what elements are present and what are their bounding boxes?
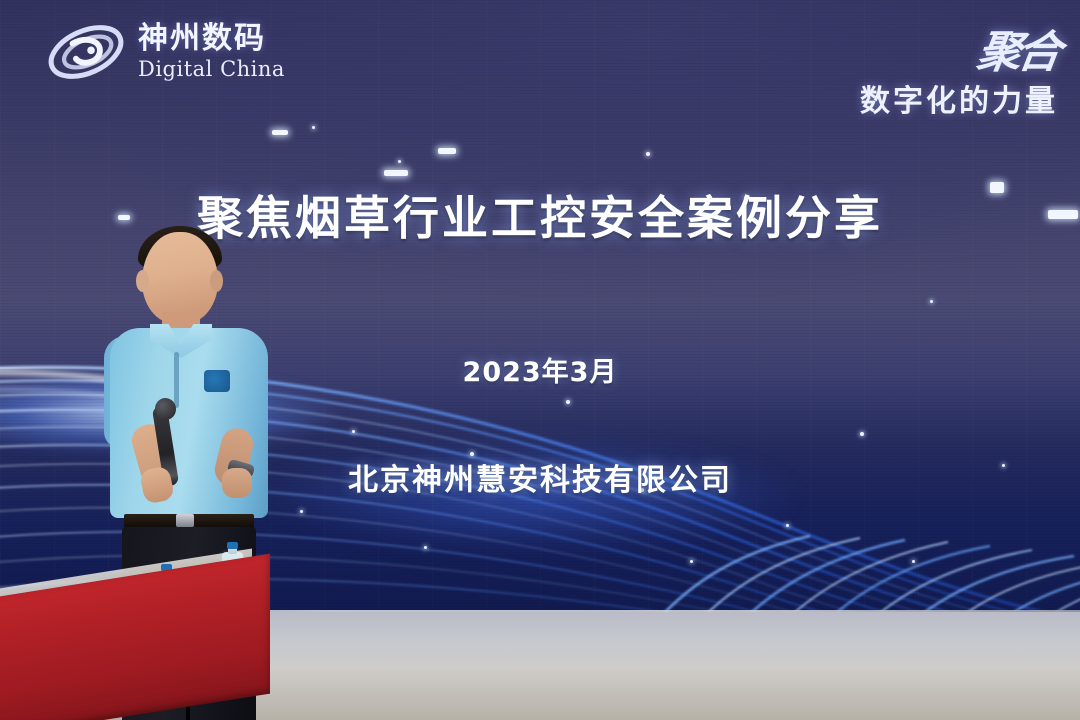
- foreground-table: [0, 560, 280, 720]
- red-tablecloth: [0, 554, 270, 720]
- event-logo-calligraphy: 聚合: [974, 16, 1063, 80]
- belt-buckle: [176, 514, 194, 527]
- speaker-ear-left: [136, 270, 149, 292]
- particle-dot: [690, 560, 693, 563]
- particle-dot: [352, 430, 355, 433]
- light-streak: [438, 148, 456, 154]
- speaker-ear-right: [210, 270, 223, 292]
- particle-dot: [786, 524, 789, 527]
- particle-dot: [566, 400, 570, 404]
- particle-dot: [912, 560, 915, 563]
- speaker-head: [142, 232, 218, 324]
- bottle-cap: [227, 542, 238, 549]
- shirt-logo-icon: [204, 370, 230, 392]
- conference-photo: 神州数码 Digital China 聚合 数字化的力量 聚焦烟草行业工控安全案…: [0, 0, 1080, 720]
- brand-name-cn: 神州数码: [138, 24, 285, 54]
- particle-dot: [930, 300, 933, 303]
- light-streak: [384, 170, 408, 176]
- speaker-hand-right: [222, 468, 252, 498]
- digital-china-logo: 神州数码 Digital China: [44, 18, 285, 86]
- digital-china-swirl-icon: [44, 18, 128, 86]
- particle-dot: [646, 152, 650, 156]
- particle-dot: [312, 126, 315, 129]
- event-logo-subtitle: 数字化的力量: [860, 76, 1058, 120]
- speaker-shirt-placket: [174, 352, 179, 408]
- event-logo: 聚合 数字化的力量: [860, 16, 1058, 120]
- particle-dot: [424, 546, 427, 549]
- particle-dot: [860, 432, 864, 436]
- particle-dot: [398, 160, 401, 163]
- brand-name-en: Digital China: [138, 59, 285, 80]
- particle-dot: [300, 510, 303, 513]
- light-streak: [272, 130, 288, 135]
